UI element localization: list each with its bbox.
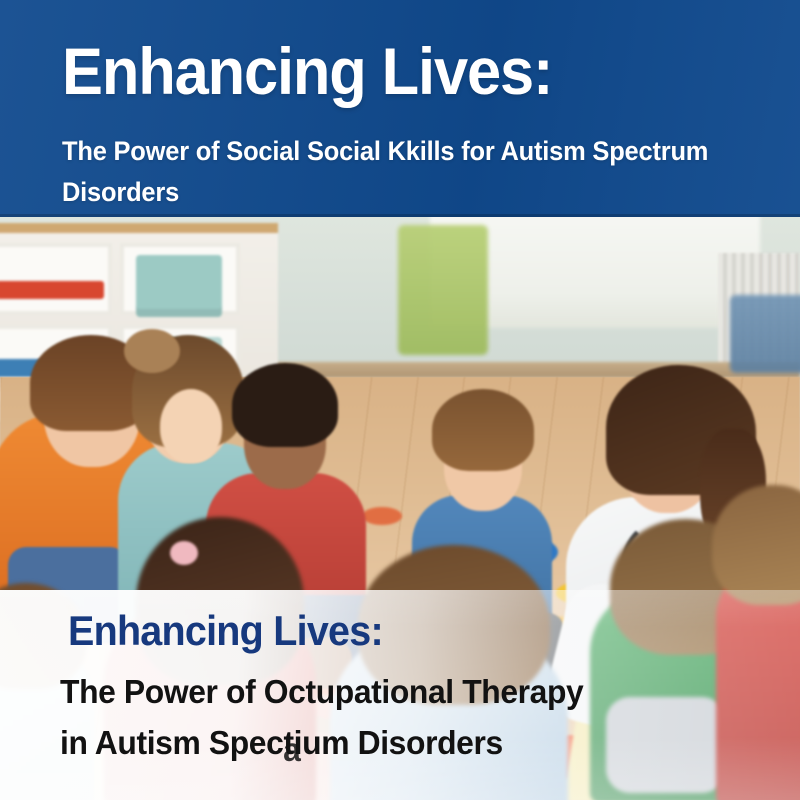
blue-chair bbox=[730, 295, 800, 373]
top-banner-subtitle: The Power of Social Social Kkills for Au… bbox=[62, 131, 724, 213]
teal-storage-bin bbox=[136, 255, 222, 317]
bottom-subtitle-line-1: The Power of Octupational Therapy bbox=[60, 666, 736, 717]
bottom-subtitle-line-2-part-b: ium Disorders bbox=[294, 724, 503, 761]
bottom-subtitle: The Power of Octupational Therapy in Aut… bbox=[60, 666, 736, 768]
top-banner-title: Enhancing Lives: bbox=[62, 36, 552, 106]
poster-canvas: Enhancing Lives: The Power of Social Soc… bbox=[0, 0, 800, 800]
bottom-title: Enhancing Lives: bbox=[68, 608, 383, 654]
red-tray bbox=[0, 281, 104, 299]
bottom-subtitle-line-2-part-a: in Autism Spect bbox=[60, 724, 294, 761]
green-cabinet bbox=[398, 225, 488, 355]
hair-tie bbox=[170, 541, 198, 565]
top-banner: Enhancing Lives: The Power of Social Soc… bbox=[0, 0, 800, 217]
bottom-subtitle-line-2: in Autism Spectium Disorders bbox=[60, 717, 736, 768]
floor-dot-orange bbox=[362, 507, 402, 525]
bottom-text-block: Enhancing Lives: The Power of Octupation… bbox=[0, 590, 800, 800]
